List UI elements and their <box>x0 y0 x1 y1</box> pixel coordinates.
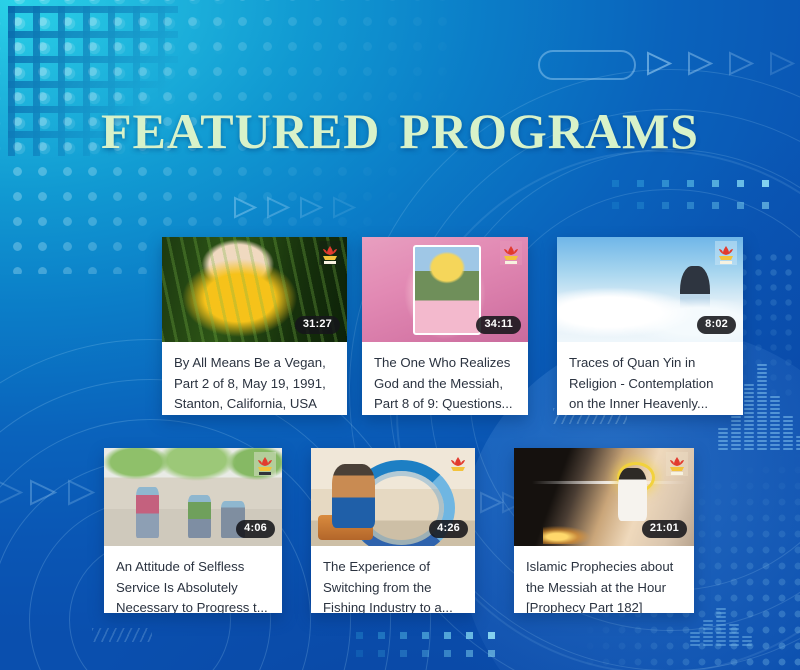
lotus-logo-icon <box>254 452 276 476</box>
equalizer-bars-icon <box>690 600 752 646</box>
equalizer-column <box>729 624 739 646</box>
equalizer-column <box>716 608 726 646</box>
equalizer-column <box>796 436 800 450</box>
decorative-square <box>687 202 694 209</box>
duration-badge: 8:02 <box>697 316 736 334</box>
decorative-square <box>488 650 495 657</box>
program-title-line: [Prophecy Part 182] <box>526 598 682 613</box>
lotus-logo-icon <box>500 241 522 265</box>
equalizer-column <box>757 364 767 450</box>
decorative-square <box>466 632 473 639</box>
program-title: Islamic Prophecies about the Messiah at … <box>514 546 694 613</box>
play-triangle-icon <box>265 195 291 220</box>
decorative-square <box>737 202 744 209</box>
program-title-line: Part 8 of 9: Questions... <box>374 394 516 415</box>
decorative-square <box>712 180 719 187</box>
decorative-square <box>356 650 363 657</box>
decorative-square <box>466 650 473 657</box>
equalizer-column <box>718 428 728 450</box>
equalizer-column <box>744 384 754 450</box>
pill-outline-icon <box>538 50 636 80</box>
program-card[interactable]: 4:06 An Attitude of Selfless Service Is … <box>104 448 282 613</box>
decorative-square <box>712 202 719 209</box>
play-triangle-icon <box>686 50 714 77</box>
play-triangle-icon <box>28 478 58 507</box>
decorative-square <box>637 180 644 187</box>
decorative-square <box>422 650 429 657</box>
decorative-square <box>422 632 429 639</box>
lotus-logo-icon <box>319 241 341 265</box>
lotus-logo-icon <box>666 452 688 476</box>
decorative-square <box>612 180 619 187</box>
program-title: The One Who Realizes God and the Messiah… <box>362 342 528 415</box>
program-title: By All Means Be a Vegan, Part 2 of 8, Ma… <box>162 342 347 415</box>
lotus-logo-icon <box>715 241 737 265</box>
decorative-square <box>637 202 644 209</box>
program-thumbnail[interactable]: 4:06 <box>104 448 282 546</box>
play-triangle-icon <box>66 478 96 507</box>
lotus-logo-icon <box>447 452 469 476</box>
program-title-line: An Attitude of Selfless <box>116 557 270 578</box>
diagonal-hatch-icon <box>92 628 152 642</box>
decorative-square <box>400 632 407 639</box>
program-title-line: Service Is Absolutely <box>116 578 270 599</box>
decorative-square <box>378 650 385 657</box>
program-card[interactable]: 4:26 The Experience of Switching from th… <box>311 448 475 613</box>
equalizer-column <box>703 620 713 646</box>
decorative-square <box>662 202 669 209</box>
program-card[interactable]: 31:27 By All Means Be a Vegan, Part 2 of… <box>162 237 347 415</box>
duration-badge: 34:11 <box>476 316 521 334</box>
equalizer-column <box>690 632 700 646</box>
program-title-line: Fishing Industry to a... <box>323 598 463 613</box>
duration-badge: 4:26 <box>429 520 468 538</box>
program-title-line: Switching from the <box>323 578 463 599</box>
decorative-square <box>762 202 769 209</box>
decorative-square <box>662 180 669 187</box>
decorative-square <box>356 632 363 639</box>
program-title-line: Part 2 of 8, May 19, 1991, <box>174 374 335 395</box>
program-title-line: the Messiah at the Hour <box>526 578 682 599</box>
square-grid-icon <box>356 632 510 668</box>
play-triangle-icon <box>727 50 755 77</box>
program-card[interactable]: 21:01 Islamic Prophecies about the Messi… <box>514 448 694 613</box>
program-title-line: God and the Messiah, <box>374 374 516 395</box>
duration-badge: 21:01 <box>642 520 687 538</box>
duration-badge: 31:27 <box>295 316 340 334</box>
featured-programs-banner: Featured Programs 31:27 By All Means Be … <box>0 0 800 670</box>
program-title-line: Stanton, California, USA <box>174 394 335 415</box>
equalizer-column <box>783 416 793 450</box>
play-triangle-icon <box>298 195 324 220</box>
decorative-square <box>444 632 451 639</box>
square-grid-icon <box>612 180 787 224</box>
decorative-square <box>737 180 744 187</box>
decorative-square <box>378 632 385 639</box>
play-triangle-icon <box>645 50 673 77</box>
decorative-square <box>488 632 495 639</box>
decorative-square <box>612 202 619 209</box>
play-triangle-icon <box>331 195 357 220</box>
program-title: An Attitude of Selfless Service Is Absol… <box>104 546 282 613</box>
page-title: Featured Programs <box>0 88 800 160</box>
program-thumbnail[interactable]: 21:01 <box>514 448 694 546</box>
equalizer-column <box>770 396 780 450</box>
program-title-line: The Experience of <box>323 557 463 578</box>
decorative-square <box>400 650 407 657</box>
program-title: The Experience of Switching from the Fis… <box>311 546 475 613</box>
program-thumbnail[interactable]: 4:26 <box>311 448 475 546</box>
program-thumbnail[interactable]: 31:27 <box>162 237 347 342</box>
program-title-line: Traces of Quan Yin in <box>569 353 731 374</box>
program-thumbnail[interactable]: 8:02 <box>557 237 743 342</box>
program-card[interactable]: 8:02 Traces of Quan Yin in Religion - Co… <box>557 237 743 415</box>
duration-badge: 4:06 <box>236 520 275 538</box>
program-title-line: Necessary to Progress t... <box>116 598 270 613</box>
decorative-square <box>762 180 769 187</box>
program-title-line: Islamic Prophecies about <box>526 557 682 578</box>
decorative-square <box>444 650 451 657</box>
program-title-line: Religion - Contemplation <box>569 374 731 395</box>
program-thumbnail[interactable]: 34:11 <box>362 237 528 342</box>
equalizer-column <box>742 636 752 646</box>
program-title-line: By All Means Be a Vegan, <box>174 353 335 374</box>
program-title-line: on the Inner Heavenly... <box>569 394 731 415</box>
play-triangle-icon <box>768 50 796 77</box>
play-triangle-icon <box>232 195 258 220</box>
decorative-square <box>687 180 694 187</box>
play-triangle-icon <box>0 478 24 507</box>
program-card[interactable]: 34:11 The One Who Realizes God and the M… <box>362 237 528 415</box>
program-title: Traces of Quan Yin in Religion - Contemp… <box>557 342 743 415</box>
program-title-line: The One Who Realizes <box>374 353 516 374</box>
